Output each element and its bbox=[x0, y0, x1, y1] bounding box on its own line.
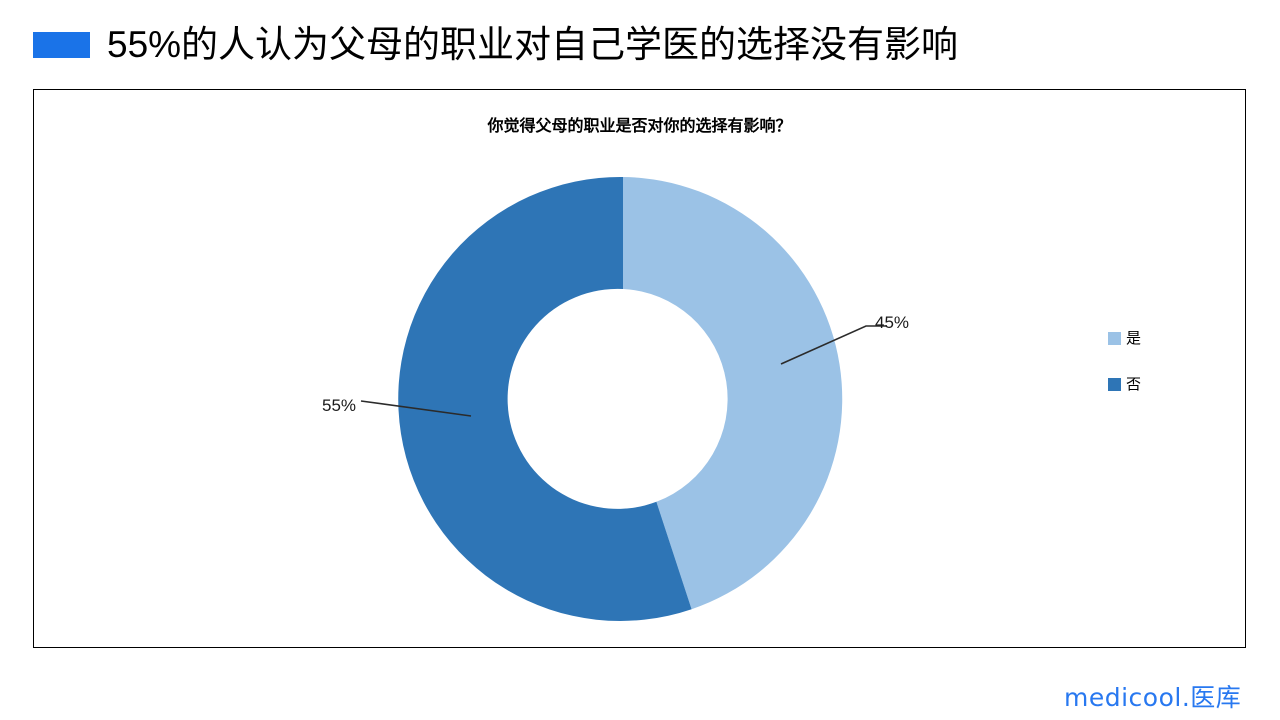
chart-legend: 是 否 bbox=[1108, 330, 1198, 422]
legend-item-no[interactable]: 否 bbox=[1108, 376, 1198, 392]
legend-label-yes: 是 bbox=[1126, 331, 1141, 346]
donut-chart-svg bbox=[34, 90, 1247, 649]
page-title: 55%的人认为父母的职业对自己学医的选择没有影响 bbox=[107, 26, 958, 63]
data-label-no: 55% bbox=[322, 396, 356, 416]
legend-swatch-no bbox=[1108, 378, 1121, 391]
title-accent-block bbox=[33, 32, 90, 58]
brand-logo: medicool.医库 bbox=[1064, 678, 1241, 714]
legend-swatch-yes bbox=[1108, 332, 1121, 345]
legend-label-no: 否 bbox=[1126, 377, 1141, 392]
data-label-yes: 45% bbox=[875, 313, 909, 333]
slide-header: 55%的人认为父母的职业对自己学医的选择没有影响 bbox=[0, 0, 1280, 89]
legend-item-yes[interactable]: 是 bbox=[1108, 330, 1198, 346]
chart-panel: 你觉得父母的职业是否对你的选择有影响？ 45% 55% 是 否 bbox=[33, 89, 1246, 648]
donut-chart: 45% 55% bbox=[34, 90, 1245, 647]
